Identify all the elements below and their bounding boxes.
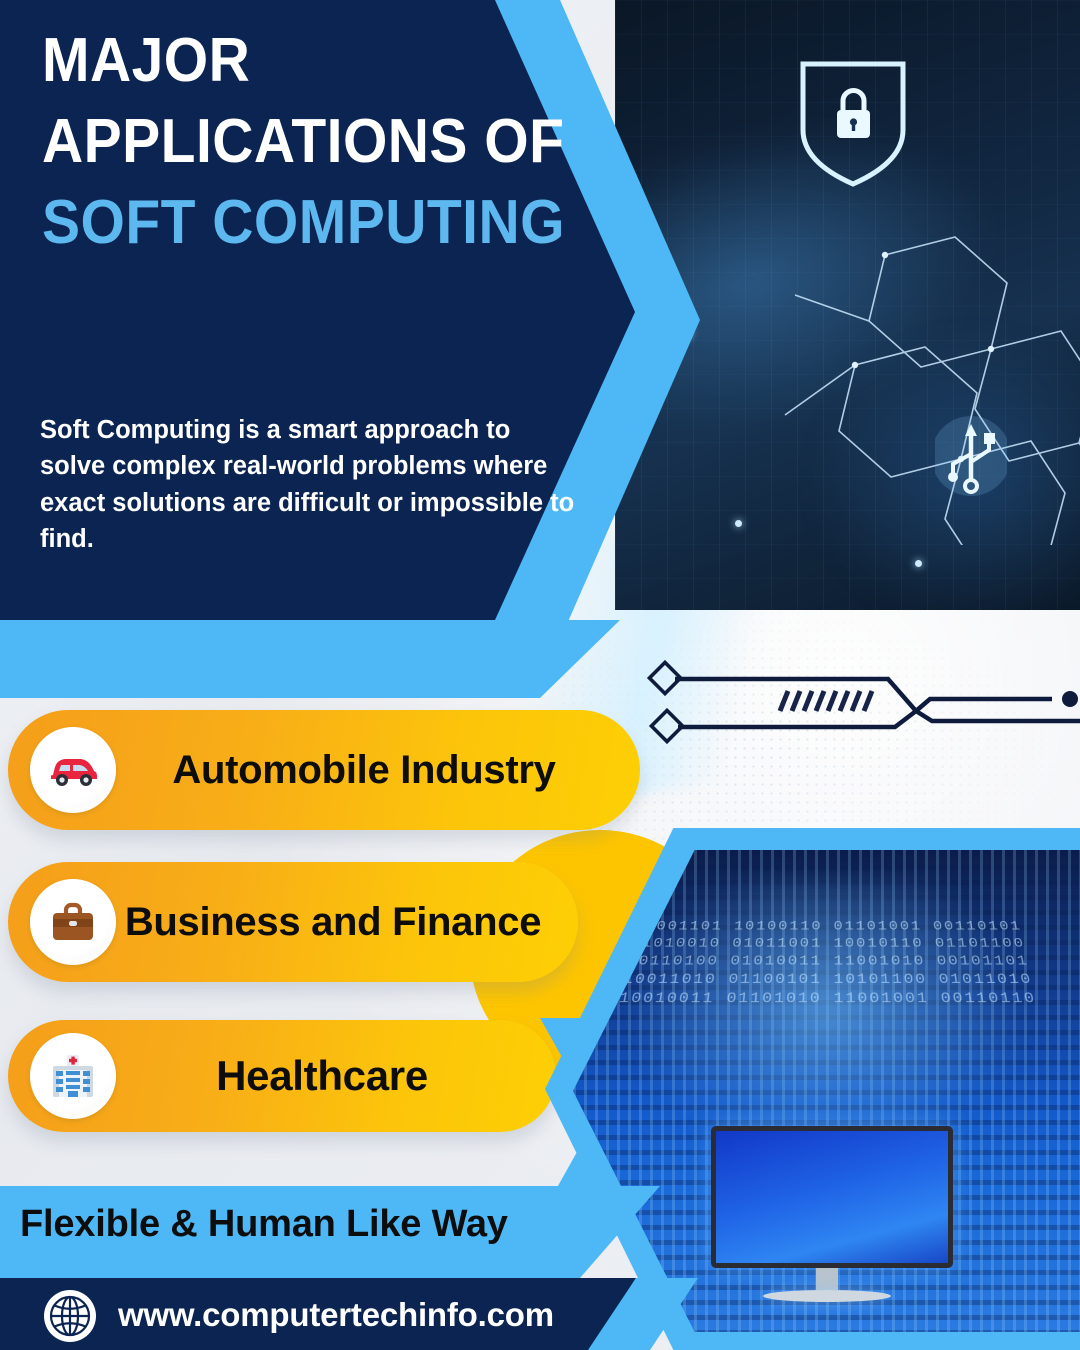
usb-icon xyxy=(935,410,1007,502)
application-label: Healthcare xyxy=(116,1052,556,1099)
title-line-1: MAJOR xyxy=(42,28,594,95)
briefcase-icon xyxy=(30,879,116,965)
intro-paragraph: Soft Computing is a smart approach to so… xyxy=(40,412,580,558)
binary-data-overlay: 01001101 10100110 01101001 00110101 1101… xyxy=(586,919,1077,1154)
application-label: Business and Finance xyxy=(116,900,578,945)
monitor-neck xyxy=(816,1268,838,1290)
car-icon xyxy=(30,727,116,813)
title-line-2: APPLICATIONS OF xyxy=(42,109,594,176)
shield-lock-icon xyxy=(793,52,913,192)
monitor-screen xyxy=(711,1126,953,1268)
header-bottom-blue-band xyxy=(0,620,620,698)
network-node xyxy=(735,520,742,527)
globe-icon xyxy=(42,1288,98,1344)
application-item-automobile[interactable]: Automobile Industry xyxy=(8,710,640,830)
title-line-3-accent: SOFT COMPUTING xyxy=(42,190,594,257)
monitor-base xyxy=(763,1290,891,1302)
computer-monitor xyxy=(711,1126,943,1302)
page-title: MAJOR APPLICATIONS OF SOFT COMPUTING xyxy=(42,28,642,257)
network-node xyxy=(915,560,922,567)
hospital-icon xyxy=(30,1033,116,1119)
footer-tagline: Flexible & Human Like Way xyxy=(20,1203,620,1246)
application-item-business-finance[interactable]: Business and Finance xyxy=(8,862,578,982)
data-city-monitor-photo: 01001101 10100110 01101001 00110101 1101… xyxy=(545,828,1080,1350)
footer-website-url[interactable]: www.computertechinfo.com xyxy=(118,1296,554,1334)
hexagon-network xyxy=(765,215,1080,545)
application-item-healthcare[interactable]: Healthcare xyxy=(8,1020,556,1132)
application-label: Automobile Industry xyxy=(116,748,640,793)
infographic-canvas: MAJOR APPLICATIONS OF SOFT COMPUTING Sof… xyxy=(0,0,1080,1350)
circuit-trace-decoration xyxy=(640,655,1080,785)
